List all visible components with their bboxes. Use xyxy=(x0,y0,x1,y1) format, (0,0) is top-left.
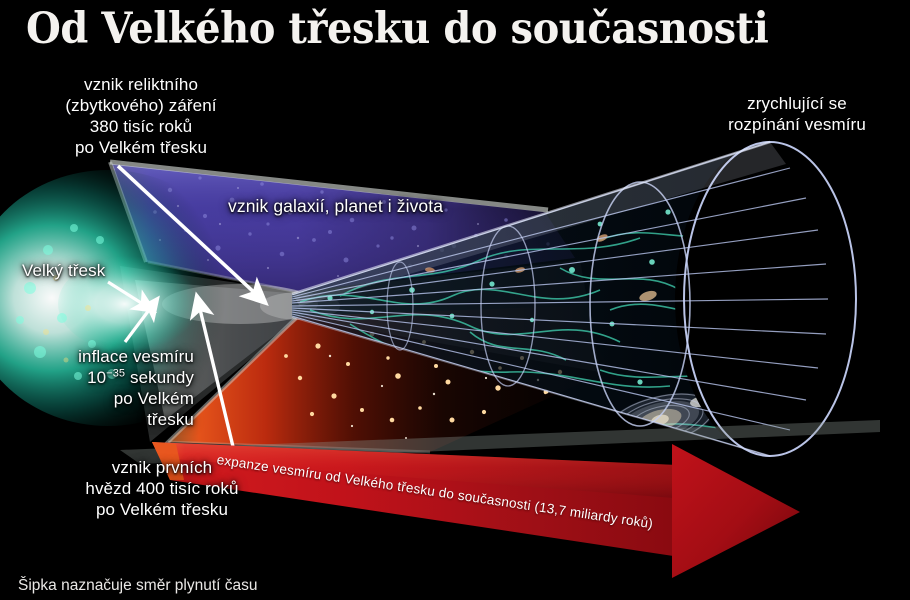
label-cmb: vznik reliktního (zbytkového) záření 380… xyxy=(12,74,270,158)
label-galaxies-planets-life: vznik galaxií, planet i života xyxy=(228,196,443,217)
label-stars-line1: vznik prvních xyxy=(42,457,282,478)
label-stars-line2: hvězd 400 tisíc roků xyxy=(42,478,282,499)
label-inflation-line3: po Velkém xyxy=(8,388,194,409)
label-big-bang: Velký třesk xyxy=(22,260,105,281)
infographic-root: Od Velkého třesku do současnosti xyxy=(0,0,910,600)
label-inflation-line2: 10−35 sekundy xyxy=(8,367,194,388)
page-title: Od Velkého třesku do současnosti xyxy=(26,2,768,56)
label-stars-line3: po Velkém třesku xyxy=(42,499,282,520)
footer-caption: Šipka naznačuje směr plynutí času xyxy=(18,577,258,595)
label-accelerating-expansion: zrychlující se rozpínání vesmíru xyxy=(690,93,904,135)
label-cmb-line4: po Velkém třesku xyxy=(12,137,270,158)
label-cmb-line1: vznik reliktního xyxy=(12,74,270,95)
label-cmb-line3: 380 tisíc roků xyxy=(12,116,270,137)
label-first-stars: vznik prvních hvězd 400 tisíc roků po Ve… xyxy=(42,457,282,520)
label-accel-line1: zrychlující se xyxy=(690,93,904,114)
label-accel-line2: rozpínání vesmíru xyxy=(690,114,904,135)
label-cmb-line2: (zbytkového) záření xyxy=(12,95,270,116)
label-inflation-line1: inflace vesmíru xyxy=(8,346,194,367)
label-inflation: inflace vesmíru 10−35 sekundy po Velkém … xyxy=(8,346,194,430)
label-inflation-line4: třesku xyxy=(8,409,194,430)
